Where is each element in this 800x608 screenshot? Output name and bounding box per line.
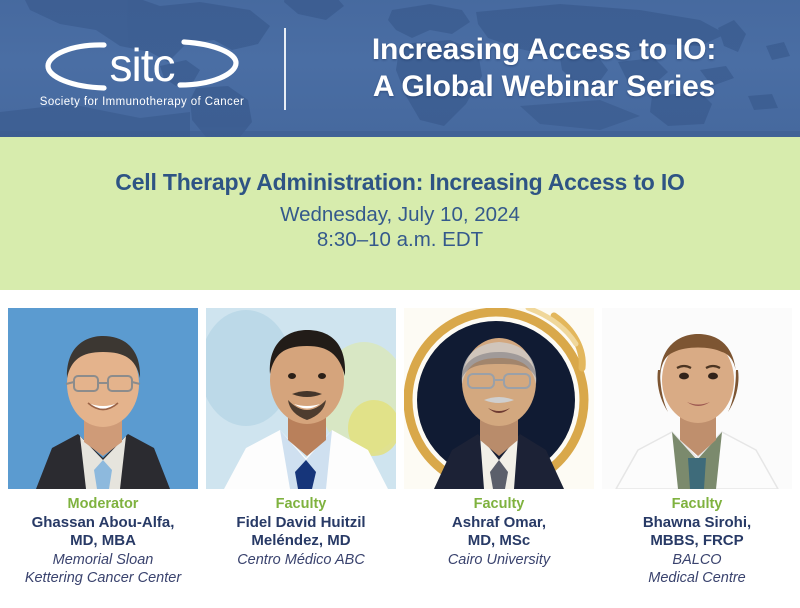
header-banner: sitc Society for Immunotherapy of Cancer… (0, 0, 800, 137)
session-title: Cell Therapy Administration: Increasing … (115, 169, 684, 196)
portrait-ghassan-abou-alfa (8, 308, 198, 489)
speaker-name-line2: MBBS, FRCP (643, 532, 751, 550)
speaker-affiliation-line1: Centro Médico ABC (237, 552, 365, 569)
session-banner: Cell Therapy Administration: Increasing … (0, 137, 800, 290)
speaker-affiliation: Cairo University (448, 552, 550, 569)
speaker-affiliation: BALCO Medical Centre (648, 552, 746, 587)
sitc-logo: sitc Society for Immunotherapy of Cancer (0, 29, 284, 108)
webinar-promo-graphic: sitc Society for Immunotherapy of Cancer… (0, 0, 800, 608)
speaker-name-line2: MD, MBA (32, 532, 175, 550)
speaker-name-line1: Ghassan Abou-Alfa, (32, 514, 175, 532)
speaker-role: Faculty (474, 496, 525, 513)
speaker-affiliation-line1: Cairo University (448, 552, 550, 569)
speaker-card: Faculty Fidel David Huitzil Meléndez, MD… (202, 308, 400, 608)
speaker-photo (404, 308, 594, 489)
speaker-affiliation-line1: Memorial Sloan (25, 552, 181, 569)
speaker-name-line2: MD, MSc (452, 532, 546, 550)
sitc-logo-mark: sitc (42, 33, 242, 95)
speaker-name: Ashraf Omar, MD, MSc (452, 514, 546, 550)
header-title: Increasing Access to IO: A Global Webina… (286, 32, 800, 105)
speaker-photo (602, 308, 792, 489)
header-title-line2: A Global Webinar Series (302, 69, 786, 106)
speaker-name-line1: Ashraf Omar, (452, 514, 546, 532)
speaker-role: Faculty (672, 496, 723, 513)
sitc-logo-tagline: Society for Immunotherapy of Cancer (40, 96, 244, 108)
speaker-affiliation-line2: Kettering Cancer Center (25, 570, 181, 587)
portrait-fidel-david-huitzil-melendez (206, 308, 396, 489)
speaker-affiliation-line2: Medical Centre (648, 570, 746, 587)
speaker-affiliation: Memorial Sloan Kettering Cancer Center (25, 552, 181, 587)
speaker-name: Ghassan Abou-Alfa, MD, MBA (32, 514, 175, 550)
sitc-swoosh-icon: sitc (42, 33, 242, 95)
speaker-photo (206, 308, 396, 489)
speaker-card: Faculty Ashraf Omar, MD, MSc Cairo Unive… (400, 308, 598, 608)
speaker-row: Moderator Ghassan Abou-Alfa, MD, MBA Mem… (0, 290, 800, 608)
speaker-affiliation-line1: BALCO (648, 552, 746, 569)
portrait-bhawna-sirohi (602, 308, 792, 489)
speaker-name: Bhawna Sirohi, MBBS, FRCP (643, 514, 751, 550)
speaker-role: Moderator (68, 496, 139, 513)
speaker-affiliation: Centro Médico ABC (237, 552, 365, 569)
session-time: 8:30–10 a.m. EDT (317, 227, 483, 252)
speaker-photo (8, 308, 198, 489)
speaker-name-line2: Meléndez, MD (236, 532, 365, 550)
speaker-role: Faculty (276, 496, 327, 513)
portrait-ashraf-omar (404, 308, 594, 489)
speaker-name-line1: Fidel David Huitzil (236, 514, 365, 532)
session-date: Wednesday, July 10, 2024 (280, 202, 520, 227)
speaker-card: Faculty Bhawna Sirohi, MBBS, FRCP BALCO … (598, 308, 796, 608)
header-title-line1: Increasing Access to IO: (372, 33, 716, 66)
speaker-name-line1: Bhawna Sirohi, (643, 514, 751, 532)
speaker-name: Fidel David Huitzil Meléndez, MD (236, 514, 365, 550)
speaker-card: Moderator Ghassan Abou-Alfa, MD, MBA Mem… (4, 308, 202, 608)
svg-text:sitc: sitc (110, 39, 175, 91)
